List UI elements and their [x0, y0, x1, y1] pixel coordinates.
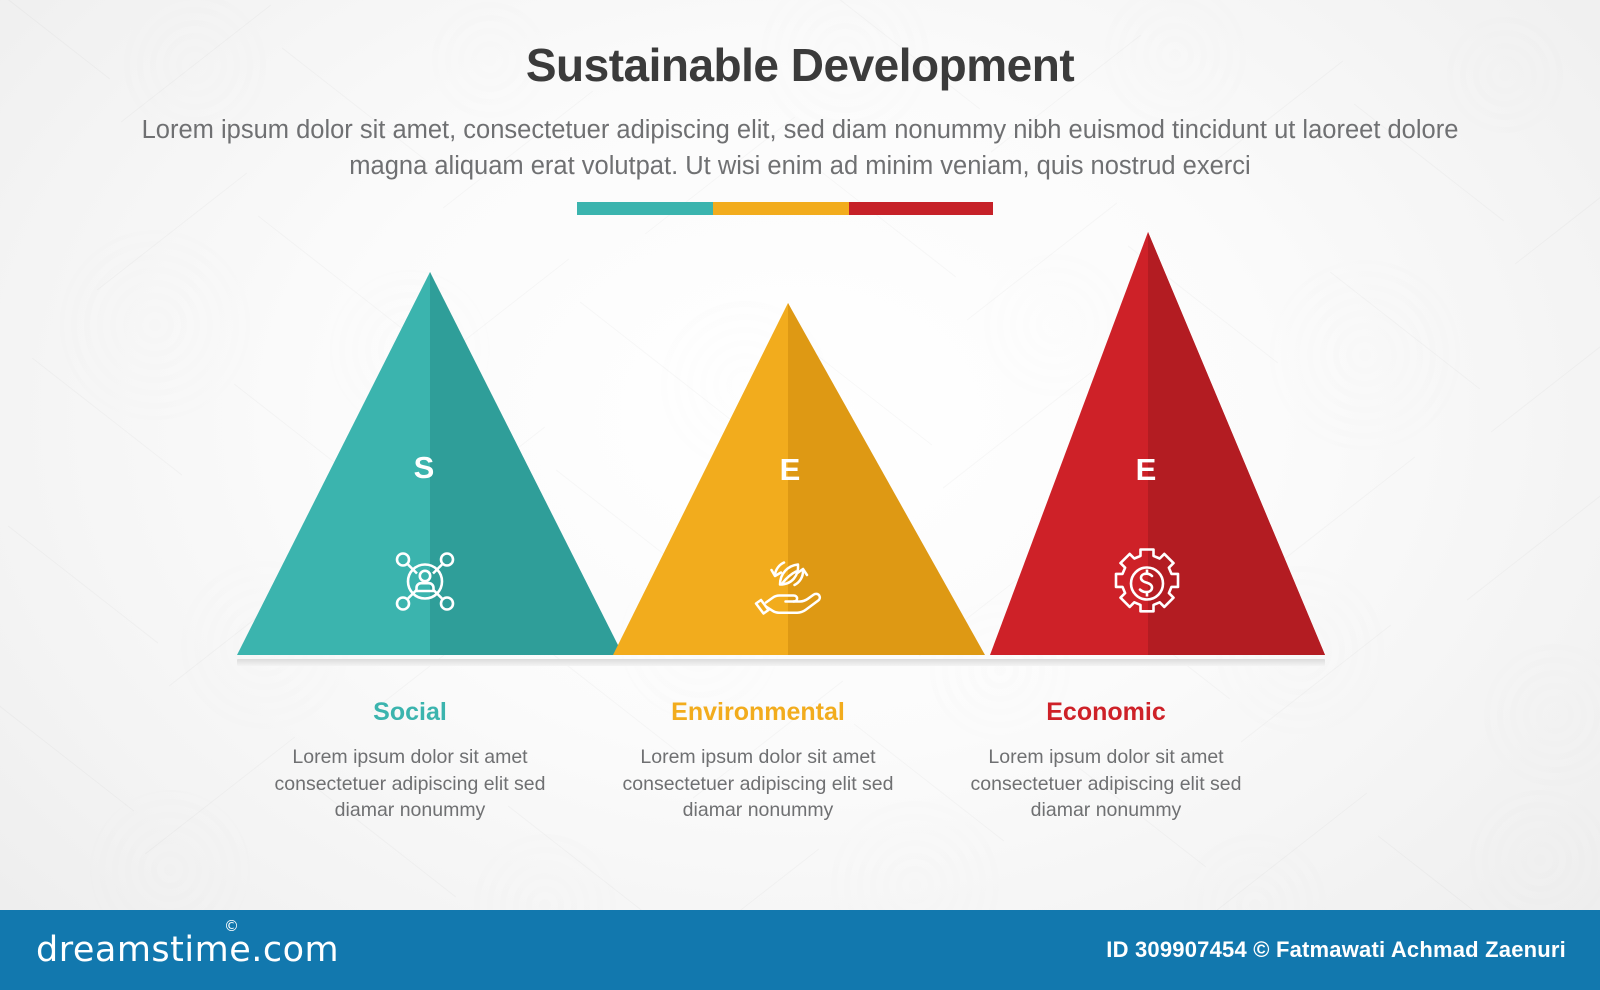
dreamstime-logo-text: dreamstime.com — [36, 930, 339, 970]
accent-bar-segment-teal — [577, 202, 713, 215]
footer-bar: dreamstime.com © ID 309907454 © Fatmawat… — [0, 910, 1600, 990]
pillar-column-social: Social Lorem ipsum dolor sit amet consec… — [236, 698, 584, 824]
accent-bar — [577, 202, 993, 215]
infographic-canvas: Sustainable Development Lorem ipsum dolo… — [0, 0, 1600, 990]
pyramid-letter-social: S — [414, 450, 435, 486]
pillar-title-environmental: Environmental — [584, 698, 932, 727]
gear-dollar-icon — [1107, 544, 1187, 629]
image-credit: ID 309907454 © Fatmawati Achmad Zaenuri — [1106, 937, 1566, 963]
pillar-title-social: Social — [236, 698, 584, 727]
pyramid-letter-economic: E — [1136, 452, 1157, 488]
pillar-desc-economic: Lorem ipsum dolor sit amet consectetuer … — [932, 744, 1280, 824]
hand-leaf-recycle-icon — [746, 541, 832, 624]
page-title: Sustainable Development — [0, 38, 1600, 92]
social-network-icon — [384, 541, 466, 628]
pillar-descriptions: Social Lorem ipsum dolor sit amet consec… — [0, 698, 1600, 824]
pillar-column-environmental: Environmental Lorem ipsum dolor sit amet… — [584, 698, 932, 824]
page-subtitle: Lorem ipsum dolor sit amet, consectetuer… — [110, 112, 1490, 184]
pillar-desc-social: Lorem ipsum dolor sit amet consectetuer … — [236, 744, 584, 824]
registered-mark-icon: © — [224, 917, 240, 935]
pillar-column-economic: Economic Lorem ipsum dolor sit amet cons… — [932, 698, 1280, 824]
pyramid-baseline — [237, 659, 1325, 666]
pillar-title-economic: Economic — [932, 698, 1280, 727]
pillar-desc-environmental: Lorem ipsum dolor sit amet consectetuer … — [584, 744, 932, 824]
dreamstime-logo[interactable]: dreamstime.com © — [36, 930, 339, 970]
pyramid-letter-environmental: E — [780, 452, 801, 488]
accent-bar-segment-red — [849, 202, 993, 215]
accent-bar-segment-amber — [713, 202, 849, 215]
